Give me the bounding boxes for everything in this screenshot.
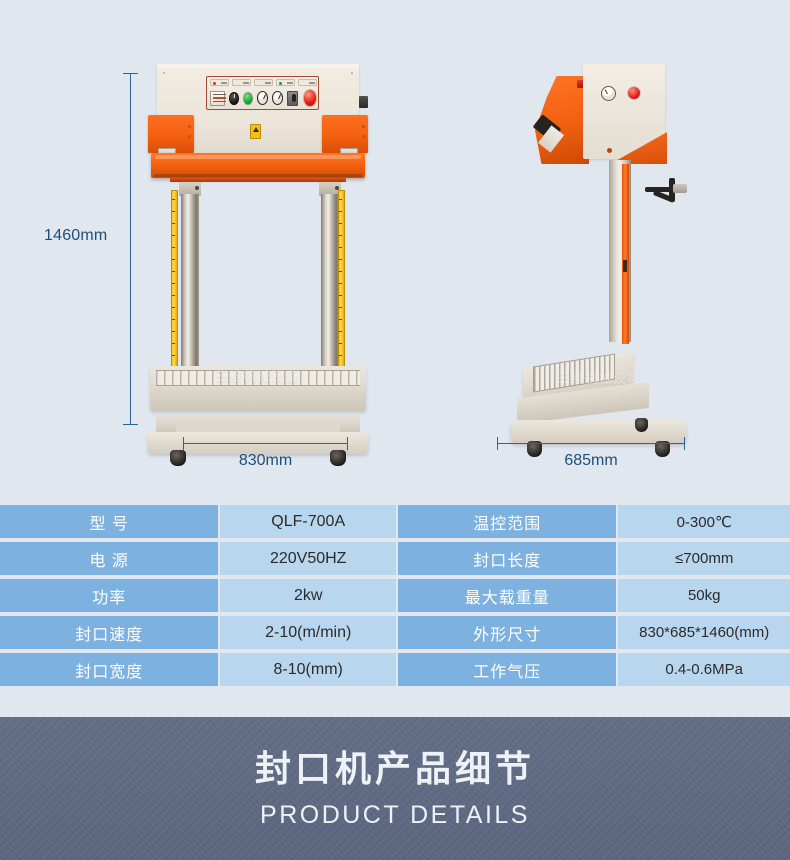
machine-front-view: 三维机械设备 [148,60,368,445]
start-button-green [243,92,254,105]
height-adjust-crank [645,178,691,204]
spec-value: 220V50HZ [220,542,396,575]
roller-conveyor-deck: 三维机械设备 [150,366,366,411]
control-panel [206,76,319,110]
warning-sticker-icon [250,124,261,139]
height-dimension-line [130,73,131,425]
sealing-bar-lip [154,174,362,177]
panel-controls-strip [210,88,317,108]
side-depth-dimension-line [497,443,685,444]
spec-key: 封口速度 [0,616,218,649]
spec-value: 2kw [220,579,396,612]
screw-icon [163,72,165,74]
spec-value: 0-300℃ [618,505,790,538]
wedge-screw-icon [607,148,612,153]
spec-value: 8-10(mm) [220,653,396,686]
banner-title-cn: 封口机产品细节 [255,747,535,790]
spec-key: 电 源 [0,542,218,575]
product-photo-area: 1460mm [0,0,790,505]
table-row: 电 源 220V50HZ 封口长度 ≤700mm [0,542,790,575]
emergency-stop-button [303,89,317,107]
spec-value: QLF-700A [220,505,396,538]
watermark-text: 三维机械设备 [182,364,332,390]
table-row: 功率 2kw 最大载重量 50kg [0,579,790,612]
table-row: 封口速度 2-10(m/min) 外形尺寸 830*685*1460(mm) [0,616,790,649]
spec-key: 封口宽度 [0,653,218,686]
power-switch [287,91,298,106]
spec-key: 温控范围 [398,505,616,538]
sealing-bar-highlight [155,155,361,159]
table-row: 型 号 QLF-700A 温控范围 0-300℃ [0,505,790,538]
speed-knob [229,92,240,105]
panel-label-chip [298,79,317,86]
height-scale-ruler [338,190,345,368]
front-width-dimension-label: 830mm [183,452,348,470]
front-width-dimension-line [183,443,348,444]
screw-icon [351,72,353,74]
spec-key: 工作气压 [398,653,616,686]
sealing-bar [151,153,365,178]
right-column-assembly [310,182,346,370]
mast-orange-strip [622,164,629,344]
side-depth-dimension-label: 685mm [497,452,685,470]
mast-marker [623,260,627,272]
machine-side-view: 三维机械设备 [505,60,690,445]
caster-wheel-icon [635,418,648,432]
chrome-column [321,194,339,370]
temperature-meter-icon [257,91,268,105]
spec-value: 2-10(m/min) [220,616,396,649]
table-row: 封口宽度 8-10(mm) 工作气压 0.4-0.6MPa [0,653,790,686]
side-red-button [627,86,641,100]
height-scale-ruler [171,190,178,368]
spec-value: ≤700mm [618,542,790,575]
pressure-gauge-icon [601,86,616,101]
left-column-assembly [170,182,206,370]
spec-value: 0.4-0.6MPa [618,653,790,686]
panel-indicator-green [276,79,295,86]
spec-value: 830*685*1460(mm) [618,616,790,649]
panel-label-chip [254,79,273,86]
spec-key: 外形尺寸 [398,616,616,649]
side-terminal-box [359,96,368,108]
head-top-edge [157,64,359,68]
specification-table: 型 号 QLF-700A 温控范围 0-300℃ 电 源 220V50HZ 封口… [0,505,790,686]
panel-label-chip [232,79,251,86]
height-dimension-label: 1460mm [44,227,107,245]
spec-key: 封口长度 [398,542,616,575]
section-banner: 封口机产品细节 PRODUCT DETAILS [0,717,790,860]
product-detail-page: 1460mm [0,0,790,860]
temperature-display [210,91,225,106]
banner-title-en: PRODUCT DETAILS [260,801,530,830]
panel-indicator-red [210,79,229,86]
spec-key: 型 号 [0,505,218,538]
pressure-meter-icon [272,91,283,105]
chrome-column [181,194,199,370]
spec-key: 最大载重量 [398,579,616,612]
spec-key: 功率 [0,579,218,612]
panel-label-strip [210,79,317,86]
spec-value: 50kg [618,579,790,612]
